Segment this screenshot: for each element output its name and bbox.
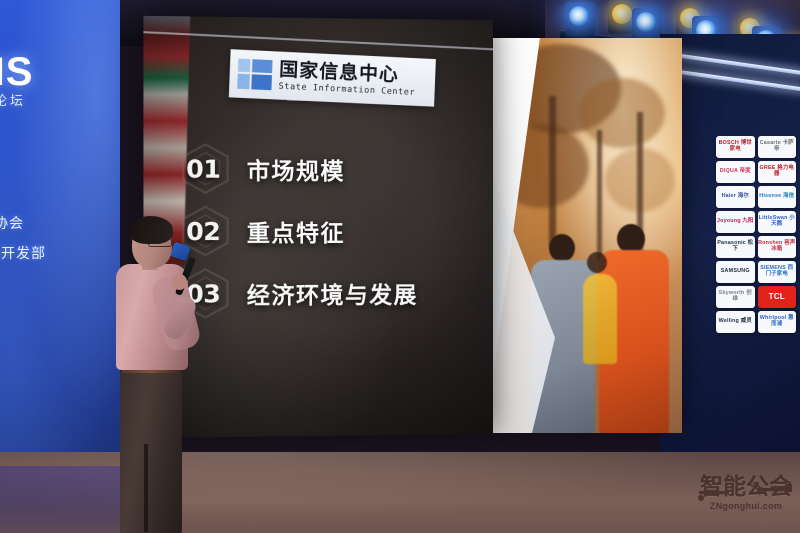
watermark-mark-icon: [697, 480, 795, 506]
presenter-trousers: [120, 366, 182, 533]
brand-card: Joyoung 九阳: [716, 211, 755, 233]
agenda-title: 经济环境与发展: [247, 276, 418, 311]
brand-card: Panasonic 松下: [716, 236, 755, 258]
photo-display-screen: [487, 38, 682, 433]
agenda-number: 01: [186, 154, 239, 183]
photo-person-yellow: [583, 274, 617, 364]
brand-card: Hisense 海信: [758, 186, 797, 208]
brand-card: Haier 海尔: [716, 186, 755, 208]
brand-card: TCL: [758, 286, 797, 308]
slide-logo-bar: 国家信息中心 State Information Center: [229, 49, 436, 107]
presenter: [96, 216, 208, 533]
brand-card: Casarte 卡萨帝: [758, 136, 797, 158]
left-wall-line-1: 协会: [0, 213, 24, 233]
brand-card: LittleSwan 小天鹅: [758, 211, 797, 233]
brand-card: BOSCH 博世家电: [716, 136, 755, 158]
brand-card: Whirlpool 惠而浦: [758, 311, 797, 333]
watermark: 智能公会 ZNgonghui.com: [697, 476, 795, 528]
brand-card: DIQUA 帝度: [716, 161, 755, 183]
presenter-glasses: [148, 238, 172, 247]
brand-card: SAMSUNG: [716, 261, 755, 283]
brand-card: Welling 威灵: [716, 311, 755, 333]
presenter-leg-gap: [144, 444, 148, 532]
agenda-title: 市场规模: [247, 152, 345, 186]
left-wall-logo-sub: 论坛: [0, 90, 26, 109]
left-wall-logo: VIS: [0, 50, 86, 95]
brand-card: Skyworth 创维: [716, 286, 755, 308]
stage-scene: BOSCH 博世家电 Casarte 卡萨帝 DIQUA 帝度 GREE 格力电…: [0, 0, 800, 533]
sponsor-brand-grid: BOSCH 博世家电 Casarte 卡萨帝 DIQUA 帝度 GREE 格力电…: [716, 136, 796, 333]
left-wall-line-2: 源开发部: [0, 243, 46, 263]
agenda-item: 01 市场规模: [143, 137, 493, 200]
stage-riser: [615, 420, 800, 446]
brand-card: SIEMENS 西门子家电: [758, 261, 797, 283]
presenter-hand: [172, 274, 187, 290]
stage-light-3: [632, 8, 662, 42]
state-information-center-icon: [237, 59, 272, 91]
brand-card: Ronshen 容声冰箱: [758, 236, 797, 258]
agenda-title: 重点特征: [247, 214, 345, 248]
stage-light-1: [565, 2, 595, 36]
brand-card: GREE 格力电器: [758, 161, 797, 183]
